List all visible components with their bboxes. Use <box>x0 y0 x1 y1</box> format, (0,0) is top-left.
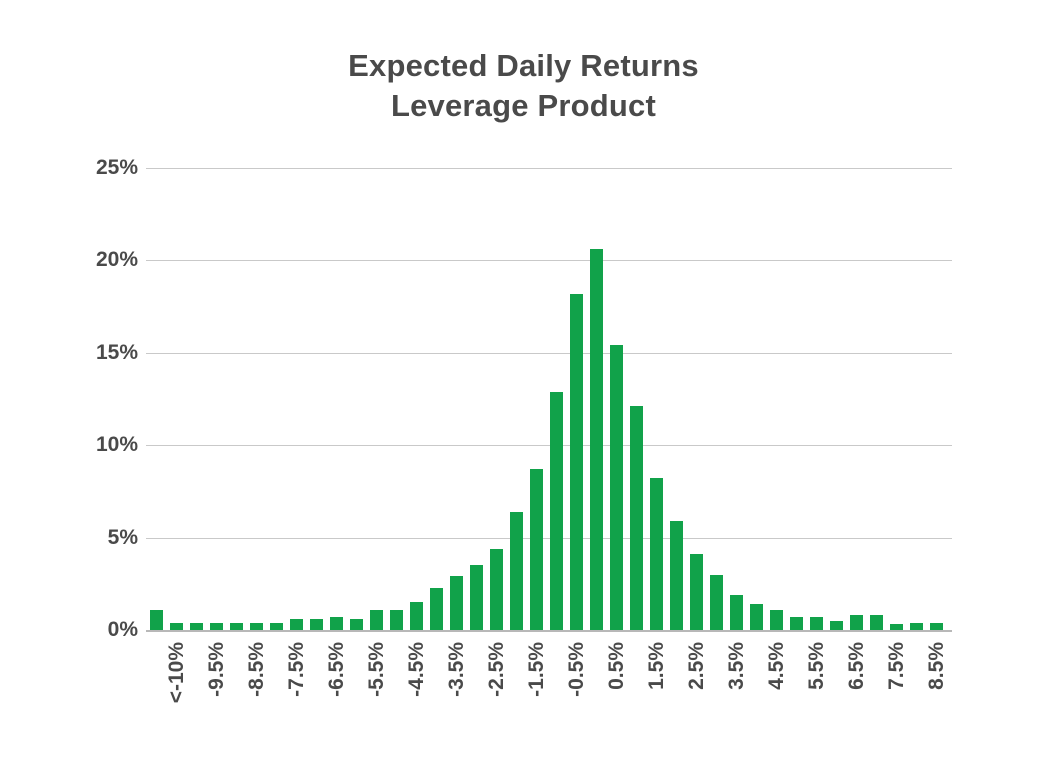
x-axis-tick-label: -3.5% <box>445 642 469 697</box>
bar[interactable] <box>790 617 803 630</box>
y-axis-tick-label: 0% <box>28 618 138 642</box>
y-axis-tick-label: 5% <box>28 526 138 550</box>
x-axis-tick-label: 3.5% <box>725 642 749 690</box>
bar[interactable] <box>810 617 823 630</box>
y-axis-tick-label: 20% <box>28 248 138 272</box>
bar[interactable] <box>730 595 743 630</box>
bar[interactable] <box>350 619 363 630</box>
y-axis-tick-label: 10% <box>28 433 138 457</box>
x-axis-tick-label: 6.5% <box>845 642 869 690</box>
bar[interactable] <box>330 617 343 630</box>
bar[interactable] <box>250 623 263 630</box>
bar[interactable] <box>490 549 503 630</box>
chart-title-line-2: Leverage Product <box>0 86 1047 126</box>
x-axis-tick-text: 0.5% <box>605 642 629 690</box>
x-axis-tick-label: -9.5% <box>205 642 229 697</box>
bar[interactable] <box>210 623 223 630</box>
x-axis-tick-label: -7.5% <box>285 642 309 697</box>
x-axis-tick-text: 6.5% <box>845 642 869 690</box>
y-axis: 0%5%10%15%20%25% <box>20 168 138 632</box>
x-axis-tick-label: 1.5% <box>645 642 669 690</box>
x-axis-tick-text: -9.5% <box>205 642 229 697</box>
bar[interactable] <box>310 619 323 630</box>
bar[interactable] <box>610 345 623 630</box>
x-axis-tick-text: -1.5% <box>525 642 549 697</box>
x-axis-tick-label: -4.5% <box>405 642 429 697</box>
x-axis-tick-text: 1.5% <box>645 642 669 690</box>
bar[interactable] <box>570 294 583 630</box>
x-axis-tick-label: 4.5% <box>765 642 789 690</box>
x-axis-tick-label: -8.5% <box>245 642 269 697</box>
bar[interactable] <box>430 588 443 631</box>
axis-baseline <box>146 630 952 632</box>
bar[interactable] <box>170 623 183 630</box>
x-axis-tick-text: -6.5% <box>325 642 349 697</box>
bar[interactable] <box>270 623 283 630</box>
bar[interactable] <box>850 615 863 630</box>
bar[interactable] <box>910 623 923 630</box>
bar[interactable] <box>670 521 683 630</box>
bar[interactable] <box>550 392 563 630</box>
x-axis-tick-label: <-10% <box>165 642 189 703</box>
x-axis-tick-text: -4.5% <box>405 642 429 697</box>
y-axis-tick-label: 25% <box>28 156 138 180</box>
bar[interactable] <box>890 624 903 630</box>
x-axis-tick-text: <-10% <box>165 642 189 703</box>
bar[interactable] <box>770 610 783 630</box>
x-axis-tick-label: -5.5% <box>365 642 389 697</box>
x-axis-tick-label: 8.5% <box>925 642 949 690</box>
x-axis-tick-text: -2.5% <box>485 642 509 697</box>
x-axis-tick-text: 7.5% <box>885 642 909 690</box>
chart-title: Expected Daily Returns Leverage Product <box>0 46 1047 127</box>
x-axis-tick-label: -6.5% <box>325 642 349 697</box>
x-axis-tick-text: -0.5% <box>565 642 589 697</box>
chart-title-line-1: Expected Daily Returns <box>0 46 1047 86</box>
x-axis-tick-text: -8.5% <box>245 642 269 697</box>
x-axis-tick-text: 5.5% <box>805 642 829 690</box>
x-axis-tick-text: 3.5% <box>725 642 749 690</box>
bar[interactable] <box>410 602 423 630</box>
x-axis-tick-text: -7.5% <box>285 642 309 697</box>
x-axis-tick-text: -3.5% <box>445 642 469 697</box>
x-axis-tick-text: 8.5% <box>925 642 949 690</box>
x-axis-tick-text: 2.5% <box>685 642 709 690</box>
x-axis-tick-label: -2.5% <box>485 642 509 697</box>
bar[interactable] <box>530 469 543 630</box>
bar[interactable] <box>510 512 523 630</box>
x-axis-tick-label: 0.5% <box>605 642 629 690</box>
bar[interactable] <box>650 478 663 630</box>
bar[interactable] <box>390 610 403 630</box>
y-axis-tick-label: 15% <box>28 341 138 365</box>
x-axis-tick-label: -1.5% <box>525 642 549 697</box>
x-axis: <-10%-9.5%-8.5%-7.5%-6.5%-5.5%-4.5%-3.5%… <box>146 636 952 780</box>
bar[interactable] <box>450 576 463 630</box>
bar[interactable] <box>590 249 603 630</box>
bar[interactable] <box>710 575 723 630</box>
bar[interactable] <box>830 621 843 630</box>
bar[interactable] <box>370 610 383 630</box>
bar[interactable] <box>870 615 883 630</box>
bar[interactable] <box>630 406 643 630</box>
x-axis-tick-label: 5.5% <box>805 642 829 690</box>
bar[interactable] <box>470 565 483 630</box>
x-axis-tick-text: 4.5% <box>765 642 789 690</box>
bar[interactable] <box>290 619 303 630</box>
bar[interactable] <box>690 554 703 630</box>
x-axis-tick-label: 2.5% <box>685 642 709 690</box>
bar[interactable] <box>230 623 243 630</box>
bar-series <box>146 168 952 630</box>
x-axis-tick-label: -0.5% <box>565 642 589 697</box>
bar[interactable] <box>150 610 163 630</box>
bar[interactable] <box>930 623 943 630</box>
bar[interactable] <box>750 604 763 630</box>
chart-root: Expected Daily Returns Leverage Product … <box>0 0 1047 780</box>
x-axis-tick-text: -5.5% <box>365 642 389 697</box>
x-axis-tick-label: 7.5% <box>885 642 909 690</box>
bar[interactable] <box>190 623 203 630</box>
